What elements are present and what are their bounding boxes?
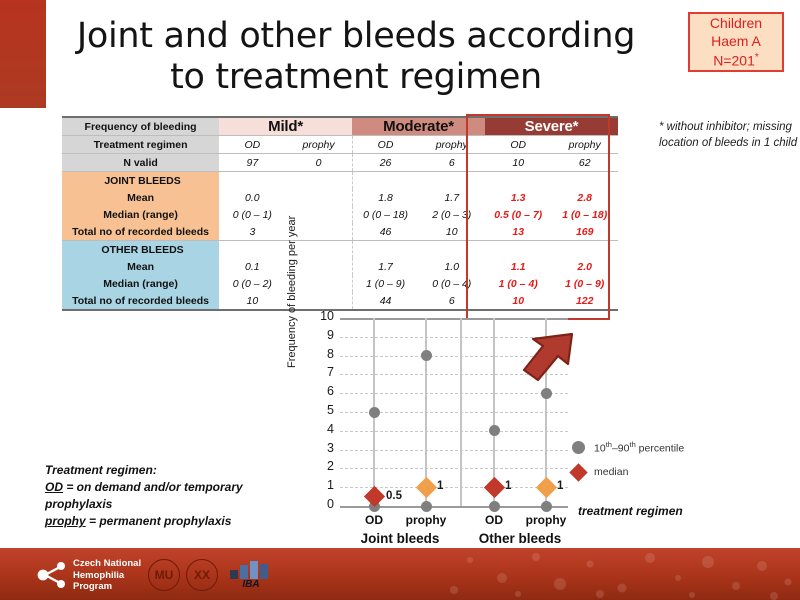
chart-group-label: Other bleeds [460,531,580,546]
decorative-left-bar [0,0,46,108]
org-line-2: Hemophilia [73,570,141,582]
median-value-label: 1 [505,480,511,492]
chart-y-tick: 4 [312,422,334,436]
regimen-mild-od: OD [219,136,285,154]
cohort-line-3: N=201* [713,51,759,70]
slide-footer: Czech National Hemophilia Program MU XX … [0,548,800,600]
chart-x-tick: OD [464,513,524,527]
chart-group-divider [460,318,462,506]
joint-median-moderate-od: 0 (0 – 18) [352,206,418,223]
legend-label-median: median [594,466,628,478]
row-header-regimen: Treatment regimen [62,136,219,154]
median-marker [535,477,556,498]
chart-y-tick: 9 [312,328,334,342]
legend-item-percentile: 10th–90th percentile [572,440,684,455]
nvalid-mild-od: 97 [219,154,285,172]
percentile-10-dot [421,501,432,512]
cnhp-logo: Czech National Hemophilia Program [36,558,141,593]
percentile-dot-icon [572,441,585,454]
median-marker [483,477,504,498]
chart-y-tick: 0 [312,497,334,511]
callout-arrow-icon [516,330,578,392]
joint-total-mild-od: 3 [219,223,285,241]
chart-y-tick: 10 [312,309,334,323]
chart-legend: 10th–90th percentile median [572,440,684,490]
regimen-mild-prophy: prophy [286,136,352,154]
group-header-joint: JOINT BLEEDS [62,172,219,190]
header-mild: Mild* [219,117,352,136]
org-line-3: Program [73,581,141,593]
chart-group-label: Joint bleeds [340,531,460,546]
chart-y-tick: 8 [312,347,334,361]
median-diamond-icon [569,463,587,481]
row-header-joint-median: Median (range) [62,206,219,223]
median-value-label: 0.5 [386,490,402,502]
footer-dots-decoration [440,548,800,600]
chart-y-tick: 1 [312,478,334,492]
page-title: Joint and other bleeds according to trea… [56,16,656,97]
chart-x-tick: prophy [516,513,576,527]
joint-median-mild-od: 0 (0 – 1) [219,206,285,223]
row-header-frequency: Frequency of bleeding [62,117,219,136]
row-header-other-median: Median (range) [62,275,219,292]
chart-y-axis-label: Frequency of bleeding per year [286,216,298,368]
footnote-text: * without inhibitor; missing location of… [659,120,799,151]
chart-y-tick: 6 [312,384,334,398]
joint-mean-mild-prophy [286,189,352,206]
nvalid-mild-prophy: 0 [286,154,352,172]
legend-label-percentile: 10th–90th percentile [594,440,684,455]
other-median-moderate-od: 1 (0 – 9) [352,275,418,292]
group-header-other: OTHER BLEEDS [62,241,219,259]
masaryk-university-seal-icon: MU [148,559,180,591]
joint-mean-moderate-od: 1.8 [352,189,418,206]
percentile-90-dot [489,425,500,436]
row-header-joint-total: Total no of recorded bleeds [62,223,219,241]
cnhp-logo-text: Czech National Hemophilia Program [73,558,141,593]
definition-prophy: prophy = permanent prophylaxis [45,513,260,530]
median-value-label: 1 [557,480,563,492]
chart-x-tick: prophy [396,513,456,527]
hemophilia-society-seal-icon: XX [186,559,218,591]
regimen-moderate-od: OD [352,136,418,154]
org-line-1: Czech National [73,558,141,570]
row-header-joint-mean: Mean [62,189,219,206]
chart-y-tick: 2 [312,459,334,473]
joint-total-moderate-od: 46 [352,223,418,241]
median-marker [363,486,384,507]
chart-y-tick: 7 [312,365,334,379]
percentile-90-dot [369,407,380,418]
definition-od: OD = on demand and/or temporary prophyla… [45,479,260,513]
row-header-nvalid: N valid [62,154,219,172]
severe-column-highlight [466,114,610,320]
nvalid-moderate-od: 26 [352,154,418,172]
chart-y-tick: 5 [312,403,334,417]
row-header-other-total: Total no of recorded bleeds [62,292,219,310]
molecule-icon [36,560,66,590]
joint-mean-mild-od: 0.0 [219,189,285,206]
other-median-mild-od: 0 (0 – 2) [219,275,285,292]
chart-x-axis-label: treatment regimen [578,504,683,518]
other-mean-mild-od: 0.1 [219,258,285,275]
other-mean-moderate-od: 1.7 [352,258,418,275]
slide-canvas: Joint and other bleeds according to trea… [0,0,800,600]
row-header-other-mean: Mean [62,258,219,275]
other-total-moderate-od: 44 [352,292,418,310]
cohort-line-1: Children [710,14,762,32]
regimen-definitions: Treatment regimen: OD = on demand and/or… [45,462,260,530]
percentile-90-dot [421,350,432,361]
median-marker [415,477,436,498]
legend-item-median: median [572,466,684,479]
cohort-badge: Children Haem A N=201* [688,12,784,72]
definitions-heading: Treatment regimen: [45,462,260,479]
chart-y-tick: 3 [312,441,334,455]
percentile-10-dot [541,501,552,512]
other-total-mild-od: 10 [219,292,285,310]
svg-text:IBA: IBA [242,579,259,588]
median-value-label: 1 [437,480,443,492]
cohort-line-2: Haem A [711,32,761,50]
iba-logo-icon: IBA [228,560,274,588]
percentile-10-dot [489,501,500,512]
chart-x-tick: OD [344,513,404,527]
